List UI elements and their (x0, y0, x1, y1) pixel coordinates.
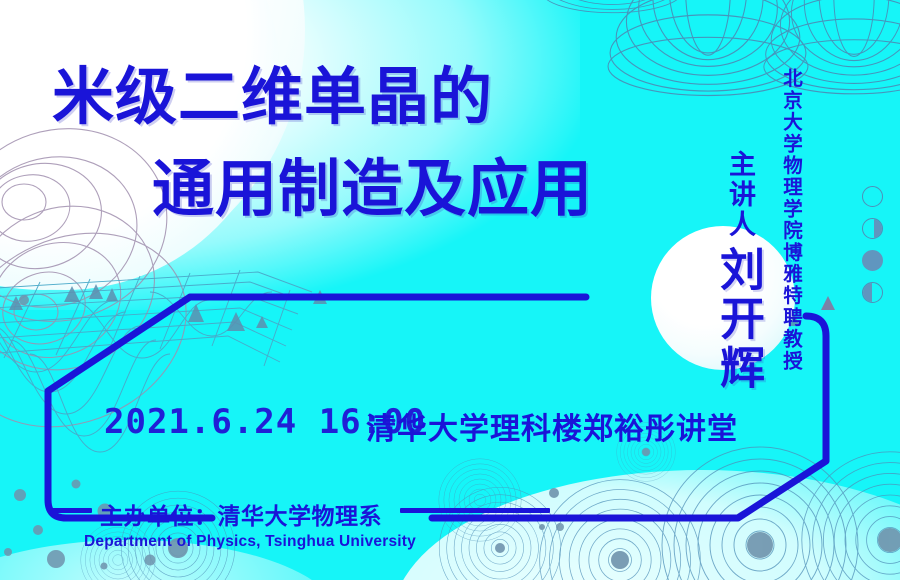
speaker-label: 主讲人 (726, 150, 753, 240)
organizer-chinese: 主办单位：清华大学物理系 (100, 497, 382, 531)
lecture-poster: 米级二维单晶的 通用制造及应用 北京大学物理学院博雅特聘教授 主讲人 刘开辉 2… (0, 0, 900, 580)
event-venue: 清华大学理科楼郑裕彤讲堂 (366, 404, 738, 448)
poster-title-line-1: 米级二维单晶的 (52, 66, 493, 128)
organizer-rule-right (400, 508, 550, 513)
moon-phase-icon-group (862, 186, 883, 314)
teardrop-wireframe-motif (541, 0, 900, 96)
speaker-name: 刘开辉 (716, 246, 761, 393)
moon-phase-half-left-icon (862, 282, 883, 303)
poster-title-line-2: 通用制造及应用 (152, 158, 593, 220)
speaker-affiliation: 北京大学物理学院博雅特聘教授 (781, 68, 801, 372)
organizer-rule-left (52, 508, 92, 513)
moon-phase-empty-icon (862, 186, 883, 207)
organizer-english: Department of Physics, Tsinghua Universi… (84, 533, 416, 551)
moon-phase-half-right-icon (862, 218, 883, 239)
bottom-right-white-wedge (392, 470, 900, 580)
moon-phase-full-icon (862, 250, 883, 271)
